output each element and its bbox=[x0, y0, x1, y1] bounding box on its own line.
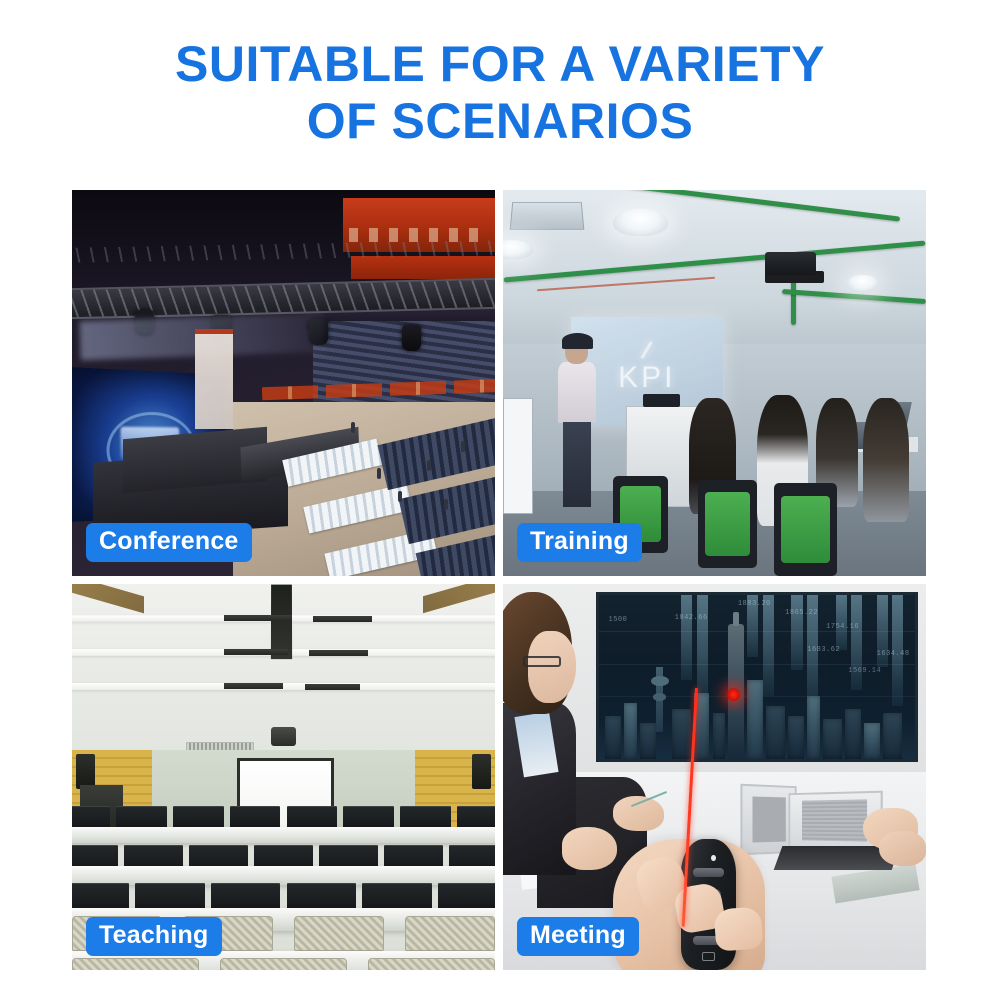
desktop-monitor bbox=[362, 883, 432, 910]
mesh-chair bbox=[368, 958, 495, 970]
ceiling-dark-panel bbox=[309, 650, 368, 656]
skyline-building bbox=[640, 723, 656, 759]
colleague-hand bbox=[562, 827, 617, 869]
skyline-building bbox=[788, 716, 804, 759]
ceiling-dark-panel bbox=[224, 683, 283, 689]
skyline-tv-tower bbox=[656, 667, 664, 733]
presenter-finger bbox=[713, 907, 762, 953]
classroom-desk-row bbox=[72, 827, 495, 842]
ceiling-projector bbox=[271, 727, 296, 746]
arena-attendee bbox=[398, 491, 402, 502]
mesh-chair bbox=[220, 958, 347, 970]
desktop-monitor bbox=[438, 883, 495, 910]
scenario-panel-meeting[interactable]: 1500 1842.66 1883.20 1865.22 1754.16 168… bbox=[503, 584, 926, 970]
desktop-monitor bbox=[72, 806, 110, 829]
arena-hanging-banner bbox=[195, 329, 233, 429]
remote-led-indicator bbox=[711, 855, 716, 862]
ceiling-wood-trim-right bbox=[423, 584, 495, 613]
scenario-grid: Conference KPI bbox=[72, 190, 926, 970]
ceiling-dome-light bbox=[613, 209, 668, 236]
scenario-badge-training: Training bbox=[517, 523, 642, 562]
training-photo: KPI bbox=[503, 190, 926, 576]
presenter-cap bbox=[562, 333, 593, 348]
laser-dot bbox=[727, 688, 740, 701]
chart-value-label: 1842.66 bbox=[675, 614, 708, 622]
scenario-panel-conference[interactable]: Conference bbox=[72, 190, 495, 576]
skyline-building bbox=[713, 713, 726, 759]
scenario-badge-teaching: Teaching bbox=[86, 917, 222, 956]
scenario-panel-training[interactable]: KPI Trai bbox=[503, 190, 926, 576]
presenter-shirt bbox=[558, 362, 596, 423]
mesh-chair bbox=[294, 916, 384, 951]
classroom-chair-row bbox=[72, 958, 495, 970]
desktop-monitor bbox=[457, 806, 495, 829]
ceiling-light-strip bbox=[72, 683, 495, 690]
chart-value-label: 1683.62 bbox=[807, 646, 840, 654]
arena-attendee bbox=[461, 441, 465, 452]
desktop-monitor bbox=[116, 806, 167, 829]
green-mesh-chair bbox=[698, 480, 757, 569]
remote-icon-glyph bbox=[702, 952, 715, 961]
page-title: SUITABLE FOR A VARIETY OF SCENARIOS bbox=[0, 36, 1000, 149]
teaching-photo bbox=[72, 584, 495, 970]
meeting-photo: 1500 1842.66 1883.20 1865.22 1754.16 168… bbox=[503, 584, 926, 970]
skyline-building bbox=[823, 719, 842, 758]
mesh-chair bbox=[405, 916, 495, 951]
ceiling-ac-unit bbox=[510, 202, 585, 229]
skyline-building bbox=[766, 706, 785, 758]
chart-value-label: 1754.16 bbox=[826, 623, 859, 631]
desktop-monitor bbox=[230, 806, 281, 829]
desktop-monitor bbox=[173, 806, 224, 829]
desktop-monitor bbox=[400, 806, 451, 829]
wall-display-screen: 1500 1842.66 1883.20 1865.22 1754.16 168… bbox=[596, 592, 917, 762]
ceiling-dark-panel bbox=[313, 616, 372, 622]
wall-speaker-right bbox=[472, 754, 491, 789]
desktop-monitor bbox=[72, 883, 129, 910]
monitor-row bbox=[72, 883, 495, 910]
arena-attendee bbox=[444, 499, 448, 510]
ceiling-dark-panel bbox=[224, 615, 292, 621]
skyline-building bbox=[624, 703, 637, 759]
ceiling-dark-panel bbox=[305, 684, 360, 690]
arena-attendee bbox=[427, 460, 431, 471]
ceiling-wood-trim-left bbox=[72, 584, 144, 613]
chart-value-label: 1865.22 bbox=[785, 609, 818, 617]
skyline-building bbox=[883, 713, 902, 759]
desktop-monitor bbox=[343, 806, 394, 829]
eyeglasses bbox=[523, 656, 560, 667]
skyline-building bbox=[747, 680, 763, 759]
product-feature-page: SUITABLE FOR A VARIETY OF SCENARIOS bbox=[0, 0, 1000, 1000]
scenario-panel-teaching[interactable]: Teaching bbox=[72, 584, 495, 970]
ceiling-dome-light bbox=[846, 275, 880, 292]
green-mesh-chair bbox=[774, 483, 837, 576]
conference-photo bbox=[72, 190, 495, 576]
mesh-chair bbox=[72, 958, 199, 970]
colleague-hand bbox=[879, 831, 926, 866]
skyline-building bbox=[672, 709, 691, 758]
chart-value-label: 1500 bbox=[609, 616, 628, 624]
woman-face bbox=[528, 631, 576, 703]
seated-attendee bbox=[863, 398, 910, 522]
desktop-monitor bbox=[211, 883, 281, 910]
page-title-line-1: SUITABLE FOR A VARIETY bbox=[0, 36, 1000, 93]
page-title-line-2: OF SCENARIOS bbox=[0, 93, 1000, 150]
arena-led-banner-second bbox=[351, 256, 495, 279]
desktop-monitor bbox=[287, 883, 357, 910]
skyline-building bbox=[605, 716, 621, 759]
monitor-row bbox=[72, 806, 495, 829]
ceiling-dark-panel bbox=[224, 649, 287, 655]
skyline-building bbox=[845, 709, 861, 758]
skyline-building bbox=[807, 696, 820, 758]
chair-mesh-back bbox=[781, 496, 829, 563]
presenter-trousers bbox=[563, 422, 592, 507]
desktop-monitor bbox=[287, 806, 338, 829]
flip-chart bbox=[503, 398, 533, 514]
scenario-badge-meeting: Meeting bbox=[517, 917, 639, 956]
chart-value-label: 1883.20 bbox=[738, 600, 771, 608]
scenario-badge-conference: Conference bbox=[86, 523, 252, 562]
presenter bbox=[558, 337, 596, 507]
arena-attendee bbox=[351, 422, 355, 433]
desktop-monitor bbox=[135, 883, 205, 910]
wall-speaker-left bbox=[76, 754, 95, 789]
ceiling-projector bbox=[765, 252, 816, 275]
kpi-lightning-mark bbox=[640, 342, 653, 359]
skyline-building bbox=[864, 723, 880, 759]
chair-mesh-back bbox=[705, 492, 750, 556]
stage-moving-light bbox=[402, 325, 421, 351]
ceiling-beam-track bbox=[271, 585, 292, 659]
remote-button-top[interactable] bbox=[693, 868, 724, 877]
arena-attendee bbox=[377, 468, 381, 479]
